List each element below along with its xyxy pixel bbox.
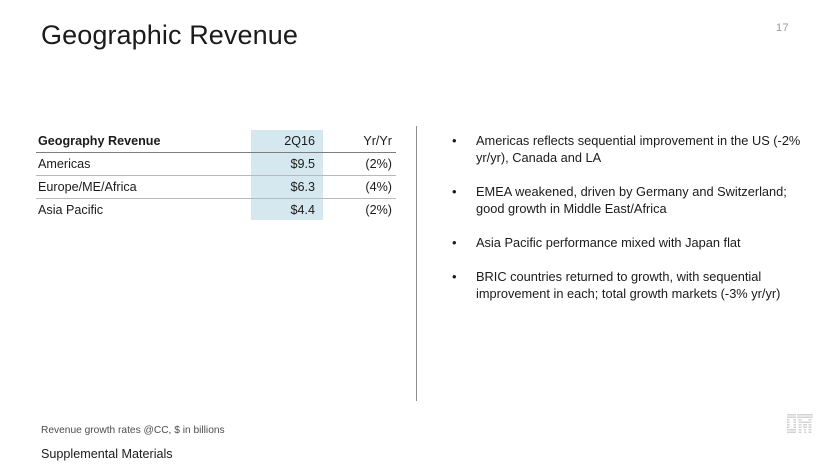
commentary-bullet-list: • Americas reflects sequential improveme…	[449, 132, 809, 302]
bullet-text: Asia Pacific performance mixed with Japa…	[476, 234, 809, 251]
table-row: Asia Pacific $4.4 (2%)	[36, 199, 396, 222]
bullet-text: Americas reflects sequential improvement…	[476, 132, 809, 166]
cell-yryr: (2%)	[323, 199, 396, 222]
column-header-2q16: 2Q16	[251, 130, 323, 153]
cell-value-2q16: $6.3	[251, 176, 323, 199]
bullet-text: BRIC countries returned to growth, with …	[476, 268, 809, 302]
page-title: Geographic Revenue	[41, 20, 298, 51]
revenue-table: Geography Revenue 2Q16 Yr/Yr Americas $9…	[36, 130, 396, 221]
cell-yryr: (2%)	[323, 153, 396, 176]
column-header-yryr: Yr/Yr	[323, 130, 396, 153]
list-item: • Asia Pacific performance mixed with Ja…	[449, 234, 809, 251]
cell-value-2q16: $4.4	[251, 199, 323, 222]
vertical-divider	[416, 126, 417, 401]
table-header-row: Geography Revenue 2Q16 Yr/Yr	[36, 130, 396, 153]
page-number: 17	[776, 22, 789, 34]
cell-geography: Asia Pacific	[36, 199, 251, 222]
column-header-geography: Geography Revenue	[36, 130, 251, 153]
cell-geography: Americas	[36, 153, 251, 176]
cell-geography: Europe/ME/Africa	[36, 176, 251, 199]
list-item: • EMEA weakened, driven by Germany and S…	[449, 183, 809, 217]
footnote: Revenue growth rates @CC, $ in billions	[41, 425, 225, 436]
ibm-logo-icon	[787, 414, 813, 436]
table-row: Europe/ME/Africa $6.3 (4%)	[36, 176, 396, 199]
bullet-point-icon: •	[449, 234, 476, 251]
cell-yryr: (4%)	[323, 176, 396, 199]
slide-canvas: Geographic Revenue 17 Geography Revenue …	[0, 0, 830, 467]
list-item: • BRIC countries returned to growth, wit…	[449, 268, 809, 302]
bullet-point-icon: •	[449, 183, 476, 200]
table-row: Americas $9.5 (2%)	[36, 153, 396, 176]
cell-value-2q16: $9.5	[251, 153, 323, 176]
bullet-point-icon: •	[449, 268, 476, 285]
bullet-point-icon: •	[449, 132, 476, 149]
bullet-text: EMEA weakened, driven by Germany and Swi…	[476, 183, 809, 217]
footer-subtitle: Supplemental Materials	[41, 447, 173, 461]
geography-revenue-table: Geography Revenue 2Q16 Yr/Yr Americas $9…	[36, 130, 396, 221]
list-item: • Americas reflects sequential improveme…	[449, 132, 809, 166]
